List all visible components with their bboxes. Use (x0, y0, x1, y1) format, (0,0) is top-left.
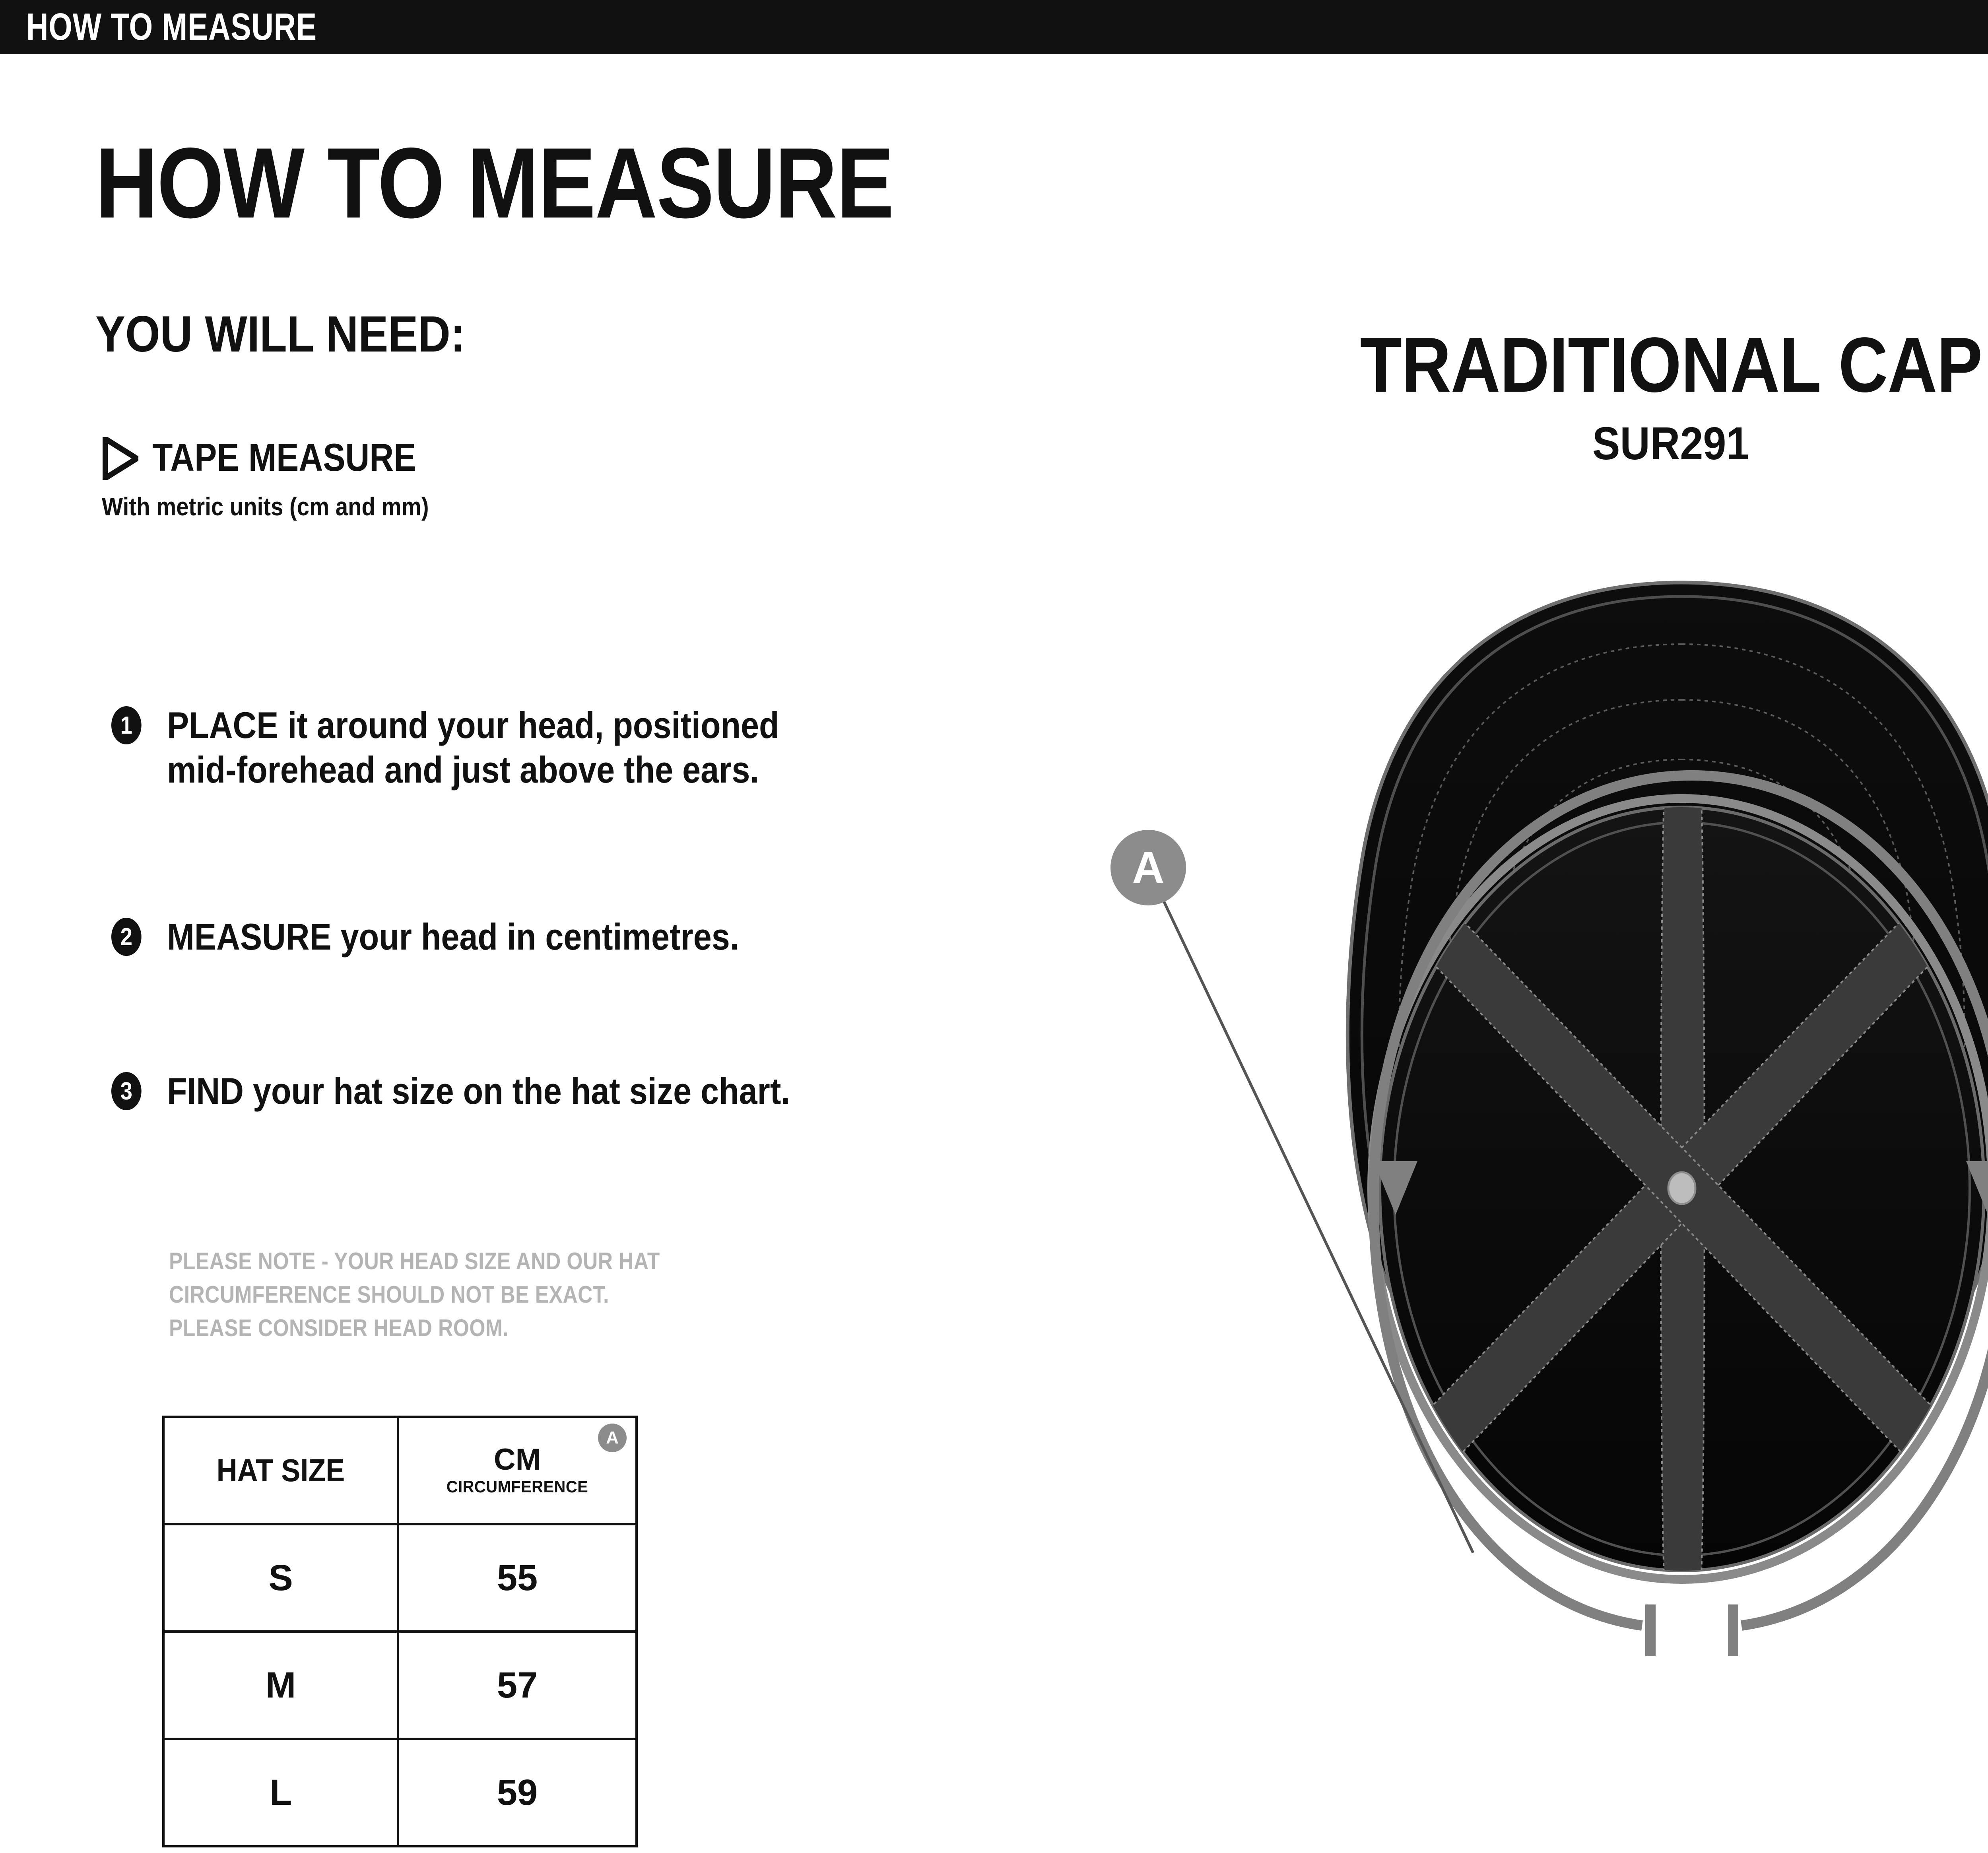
step-2-number: 2 (111, 918, 142, 956)
step-1-number: 1 (111, 706, 142, 744)
crown-button (1668, 1172, 1695, 1204)
product-code: SUR291 (0, 420, 1988, 467)
table-cell-cm: 55 (398, 1524, 637, 1632)
table-cell-size: M (163, 1632, 398, 1739)
table-cell-size: L (163, 1739, 398, 1846)
table-cell-size-value: S (165, 1557, 397, 1599)
product-title-text: TRADITIONAL CAP (1360, 325, 1982, 405)
callout-a-label: A (1132, 843, 1165, 893)
measurement-badge-a: A (598, 1424, 627, 1452)
table-header-circumference-label: CIRCUMFERENCE (405, 1476, 629, 1498)
measure-tick-left (1645, 1604, 1656, 1656)
how-to-measure-page: HOW TO MEASURE SURRIDGE HOW TO MEASURE Y… (0, 0, 1988, 1853)
table-cell-size-value: L (165, 1772, 397, 1814)
step-2-text: MEASURE your head in centimetres. (167, 915, 832, 959)
top-bar-title: HOW TO MEASURE (26, 6, 317, 48)
table-cell-cm-value: 59 (399, 1772, 635, 1814)
table-header-cm-label: CM (399, 1443, 635, 1476)
table-cell-cm: 57 (398, 1632, 637, 1739)
step-1-text: PLACE it around your head, positioned mi… (167, 703, 832, 792)
cap-diagram: A (1050, 569, 1988, 1853)
need-item-sublabel: With metric units (cm and mm) (102, 492, 429, 521)
table-header-cm: CM CIRCUMFERENCE A (398, 1417, 637, 1524)
table-cell-size-value: M (165, 1665, 397, 1706)
measure-tick-right (1728, 1604, 1738, 1656)
table-cell-cm: 59 (398, 1739, 637, 1846)
product-title: TRADITIONAL CAP (0, 325, 1988, 405)
product-code-text: SUR291 (1592, 420, 1749, 467)
please-note-text: PLEASE NOTE - YOUR HEAD SIZE AND OUR HAT… (169, 1245, 660, 1345)
table-header-hat-size-label: HAT SIZE (176, 1452, 385, 1489)
table-header-row: HAT SIZE CM CIRCUMFERENCE A (163, 1417, 637, 1524)
table-cell-size: S (163, 1524, 398, 1632)
table-row: S 55 (163, 1524, 637, 1632)
table-header-hat-size: HAT SIZE (163, 1417, 398, 1524)
table-cell-cm-value: 57 (399, 1665, 635, 1706)
hat-size-chart-table: HAT SIZE CM CIRCUMFERENCE A S 55 M 57 L … (162, 1416, 638, 1847)
table-cell-cm-value: 55 (399, 1557, 635, 1599)
table-row: M 57 (163, 1632, 637, 1739)
top-bar: HOW TO MEASURE SURRIDGE (0, 0, 1988, 54)
step-3-number: 3 (111, 1072, 142, 1110)
step-3-text: FIND your hat size on the hat size chart… (167, 1069, 832, 1113)
cap-illustration: A (1050, 569, 1988, 1853)
page-title: HOW TO MEASURE (95, 133, 893, 233)
table-row: L 59 (163, 1739, 637, 1846)
